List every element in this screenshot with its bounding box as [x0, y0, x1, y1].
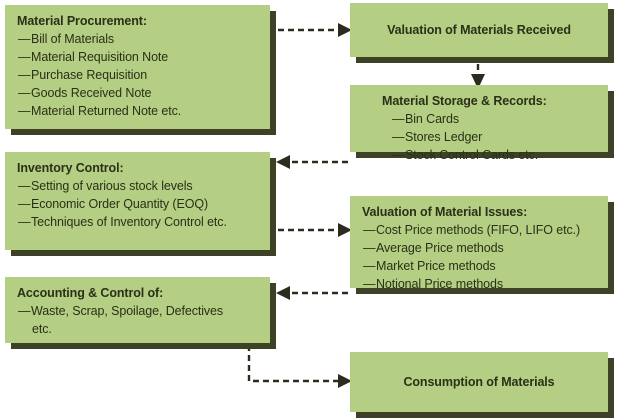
dash-marker: — — [363, 275, 376, 293]
dash-marker: — — [18, 302, 31, 320]
node-valuation-materials-received[interactable]: Valuation of Materials Received — [350, 3, 608, 57]
node-list-item-continuation: etc. — [17, 320, 260, 338]
node-list-item: —Economic Order Quantity (EOQ) — [17, 195, 260, 213]
list-item-label: Goods Received Note — [31, 86, 151, 100]
list-item-label: Material Returned Note etc. — [31, 104, 181, 118]
dash-marker: — — [18, 66, 31, 84]
list-item-label: Market Price methods — [376, 259, 496, 273]
connector-inventory-to-valuation-issues — [278, 223, 352, 237]
node-title: Material Procurement: — [17, 13, 260, 30]
node-valuation-material-issues[interactable]: Valuation of Material Issues: —Cost Pric… — [350, 196, 608, 288]
dash-marker: — — [18, 102, 31, 120]
diagram-canvas: Material Procurement: —Bill of Materials… — [0, 0, 620, 420]
node-inventory-control[interactable]: Inventory Control: —Setting of various s… — [5, 152, 270, 250]
node-list-item: —Market Price methods — [362, 257, 598, 275]
list-item-label: Average Price methods — [376, 241, 504, 255]
list-item-label: Purchase Requisition — [31, 68, 147, 82]
node-list-item: —Cost Price methods (FIFO, LIFO etc.) — [362, 221, 598, 239]
list-item-label: Notional Price methods — [376, 277, 503, 291]
node-material-procurement[interactable]: Material Procurement: —Bill of Materials… — [5, 5, 270, 129]
node-title: Accounting & Control of: — [17, 285, 260, 302]
node-list-item: —Stores Ledger — [362, 128, 598, 146]
node-list-item: —Average Price methods — [362, 239, 598, 257]
node-list-item: —Material Returned Note etc. — [17, 102, 260, 120]
connector-storage-to-inventory — [276, 155, 348, 169]
node-list-item: —Purchase Requisition — [17, 66, 260, 84]
dash-marker: — — [18, 195, 31, 213]
node-consumption-of-materials[interactable]: Consumption of Materials — [350, 352, 608, 412]
node-list-item: —Notional Price methods — [362, 275, 598, 293]
node-list-item: —Setting of various stock levels — [17, 177, 260, 195]
connector-accounting-to-consumption — [249, 345, 352, 388]
node-material-storage-records[interactable]: Material Storage & Records: —Bin Cards —… — [350, 85, 608, 152]
list-item-label: Cost Price methods (FIFO, LIFO etc.) — [376, 223, 580, 237]
dash-marker: — — [392, 110, 405, 128]
dash-marker: — — [18, 177, 31, 195]
node-title: Inventory Control: — [17, 160, 260, 177]
list-item-label: Setting of various stock levels — [31, 179, 193, 193]
list-item-label: Stores Ledger — [405, 130, 482, 144]
list-item-label: Bin Cards — [405, 112, 459, 126]
list-item-label: Stock Control Cards etc. — [405, 148, 538, 162]
list-item-label: Bill of Materials — [31, 32, 114, 46]
node-list-item: —Bin Cards — [362, 110, 598, 128]
dash-marker: — — [18, 213, 31, 231]
list-item-label: Waste, Scrap, Spoilage, Defectives — [31, 304, 223, 318]
dash-marker: — — [18, 84, 31, 102]
node-title: Valuation of Materials Received — [387, 22, 571, 39]
node-title: Valuation of Material Issues: — [362, 204, 598, 221]
node-title: Material Storage & Records: — [362, 93, 598, 110]
connector-procurement-to-valuation-received — [278, 23, 352, 37]
dash-marker: — — [18, 48, 31, 66]
node-list-item: —Techniques of Inventory Control etc. — [17, 213, 260, 231]
dash-marker: — — [18, 30, 31, 48]
node-list-item: —Stock Control Cards etc. — [362, 146, 598, 164]
dash-marker: — — [363, 221, 376, 239]
dash-marker: — — [392, 146, 405, 164]
node-list-item: —Goods Received Note — [17, 84, 260, 102]
node-list-item: —Waste, Scrap, Spoilage, Defectives — [17, 302, 260, 320]
list-item-label: Economic Order Quantity (EOQ) — [31, 197, 208, 211]
dash-marker: — — [363, 257, 376, 275]
node-accounting-control[interactable]: Accounting & Control of: —Waste, Scrap, … — [5, 277, 270, 343]
list-item-label: Techniques of Inventory Control etc. — [31, 215, 227, 229]
node-list-item: —Bill of Materials — [17, 30, 260, 48]
dash-marker: — — [392, 128, 405, 146]
dash-marker: — — [363, 239, 376, 257]
connector-valuation-issues-to-accounting — [276, 286, 348, 300]
list-item-label: Material Requisition Note — [31, 50, 168, 64]
node-title: Consumption of Materials — [403, 374, 554, 391]
node-list-item: —Material Requisition Note — [17, 48, 260, 66]
